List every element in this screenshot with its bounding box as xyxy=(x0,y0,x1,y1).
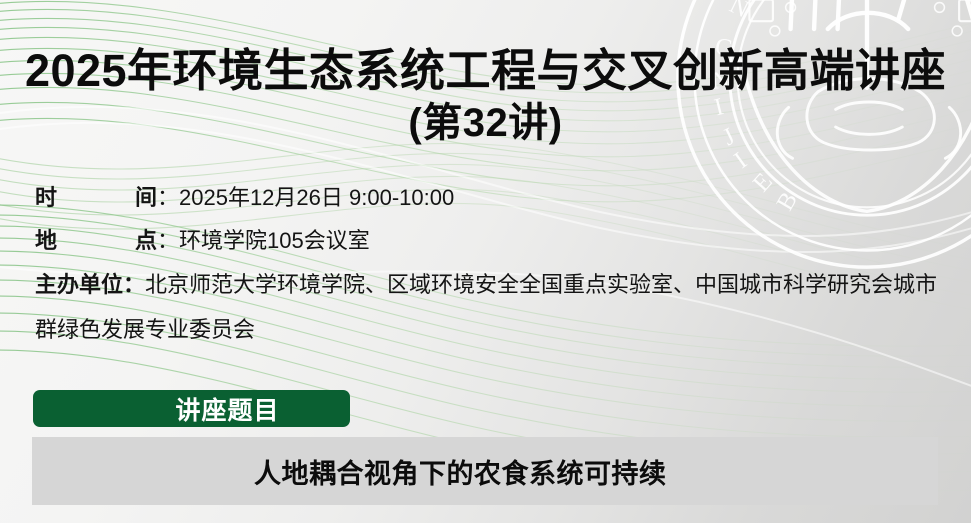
topic-tag-label: 讲座题目 xyxy=(175,391,279,427)
lecture-poster: B E I J I N G N O R M A L 1902 xyxy=(0,0,971,523)
host-label: 主办单位： xyxy=(35,262,145,307)
time-label: 时间 xyxy=(35,176,157,219)
info-row-place: 地点：环境学院105会议室 xyxy=(35,219,940,262)
poster-title: 2025年环境生态系统工程与交叉创新高端讲座 (第32讲) xyxy=(0,44,971,148)
place-label: 地点 xyxy=(35,219,157,262)
poster-title-line-2: (第32讲) xyxy=(0,98,971,148)
time-value: ：2025年12月26日 9:00-10:00 xyxy=(157,185,454,210)
info-row-host: 主办单位：北京师范大学环境学院、区域环境安全全国重点实验室、中国城市科学研究会城… xyxy=(35,262,940,352)
svg-text:I: I xyxy=(729,145,754,173)
svg-text:N: N xyxy=(725,0,755,25)
event-info-block: 时间：2025年12月26日 9:00-10:00 地点：环境学院105会议室 … xyxy=(35,176,940,352)
topic-title-bar: 人地耦合视角下的农食系统可持续 xyxy=(32,437,938,505)
host-value: 北京师范大学环境学院、区域环境安全全国重点实验室、中国城市科学研究会城市群绿色发… xyxy=(35,272,937,342)
topic-title-text: 人地耦合视角下的农食系统可持续 xyxy=(32,452,667,491)
poster-title-line-1: 2025年环境生态系统工程与交叉创新高端讲座 xyxy=(25,45,946,96)
svg-text:1902: 1902 xyxy=(925,0,971,6)
info-row-time: 时间：2025年12月26日 9:00-10:00 xyxy=(35,176,940,219)
topic-tag-badge: 讲座题目 xyxy=(33,390,350,427)
place-value: ：环境学院105会议室 xyxy=(157,228,370,253)
